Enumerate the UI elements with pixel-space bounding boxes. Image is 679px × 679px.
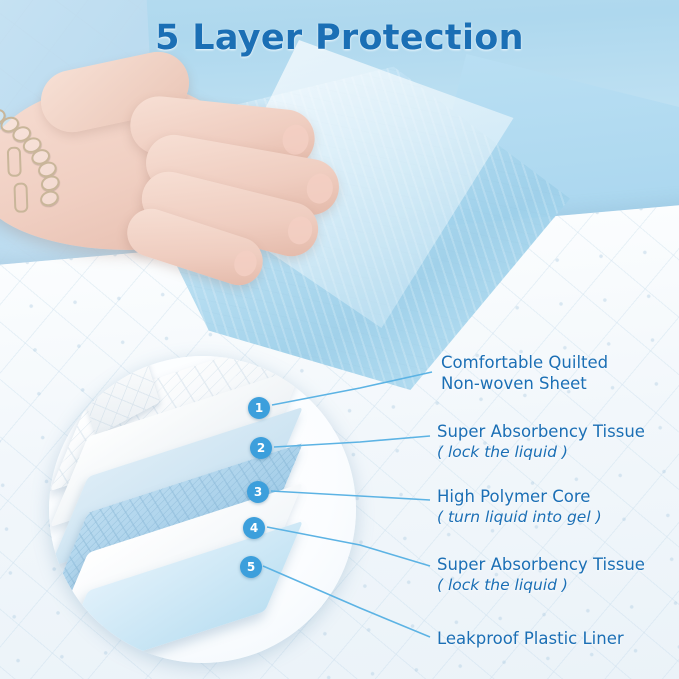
callout-label-3: High Polymer Core ( turn liquid into gel… (437, 486, 602, 528)
callout-line-3 (271, 491, 430, 500)
badge-3: 3 (247, 481, 269, 503)
callout-1-line1: Comfortable Quilted (441, 353, 608, 372)
callout-label-1: Comfortable Quilted Non-woven Sheet (441, 352, 608, 394)
callout-2-line2: ( lock the liquid ) (437, 442, 645, 463)
badge-4: 4 (243, 517, 265, 539)
callout-line-2 (274, 436, 430, 447)
callout-label-4: Super Absorbency Tissue ( lock the liqui… (437, 554, 645, 596)
callout-5-line1: Leakproof Plastic Liner (437, 629, 624, 648)
callout-line-1 (272, 372, 432, 405)
badge-2: 2 (250, 437, 272, 459)
product-infographic: 5 Layer Protection 1 2 3 4 5 Comfortabl (0, 0, 679, 679)
callout-3-line2: ( turn liquid into gel ) (437, 507, 602, 528)
callout-line-5 (263, 566, 430, 637)
callout-label-5: Leakproof Plastic Liner (437, 628, 624, 649)
callout-4-line1: Super Absorbency Tissue (437, 555, 645, 574)
callout-line-4 (267, 527, 430, 566)
callout-4-line2: ( lock the liquid ) (437, 575, 645, 596)
callout-2-line1: Super Absorbency Tissue (437, 422, 645, 441)
callout-label-2: Super Absorbency Tissue ( lock the liqui… (437, 421, 645, 463)
callout-3-line1: High Polymer Core (437, 487, 590, 506)
callout-1-line2: Non-woven Sheet (441, 374, 587, 393)
badge-5: 5 (240, 556, 262, 578)
badge-1: 1 (248, 397, 270, 419)
